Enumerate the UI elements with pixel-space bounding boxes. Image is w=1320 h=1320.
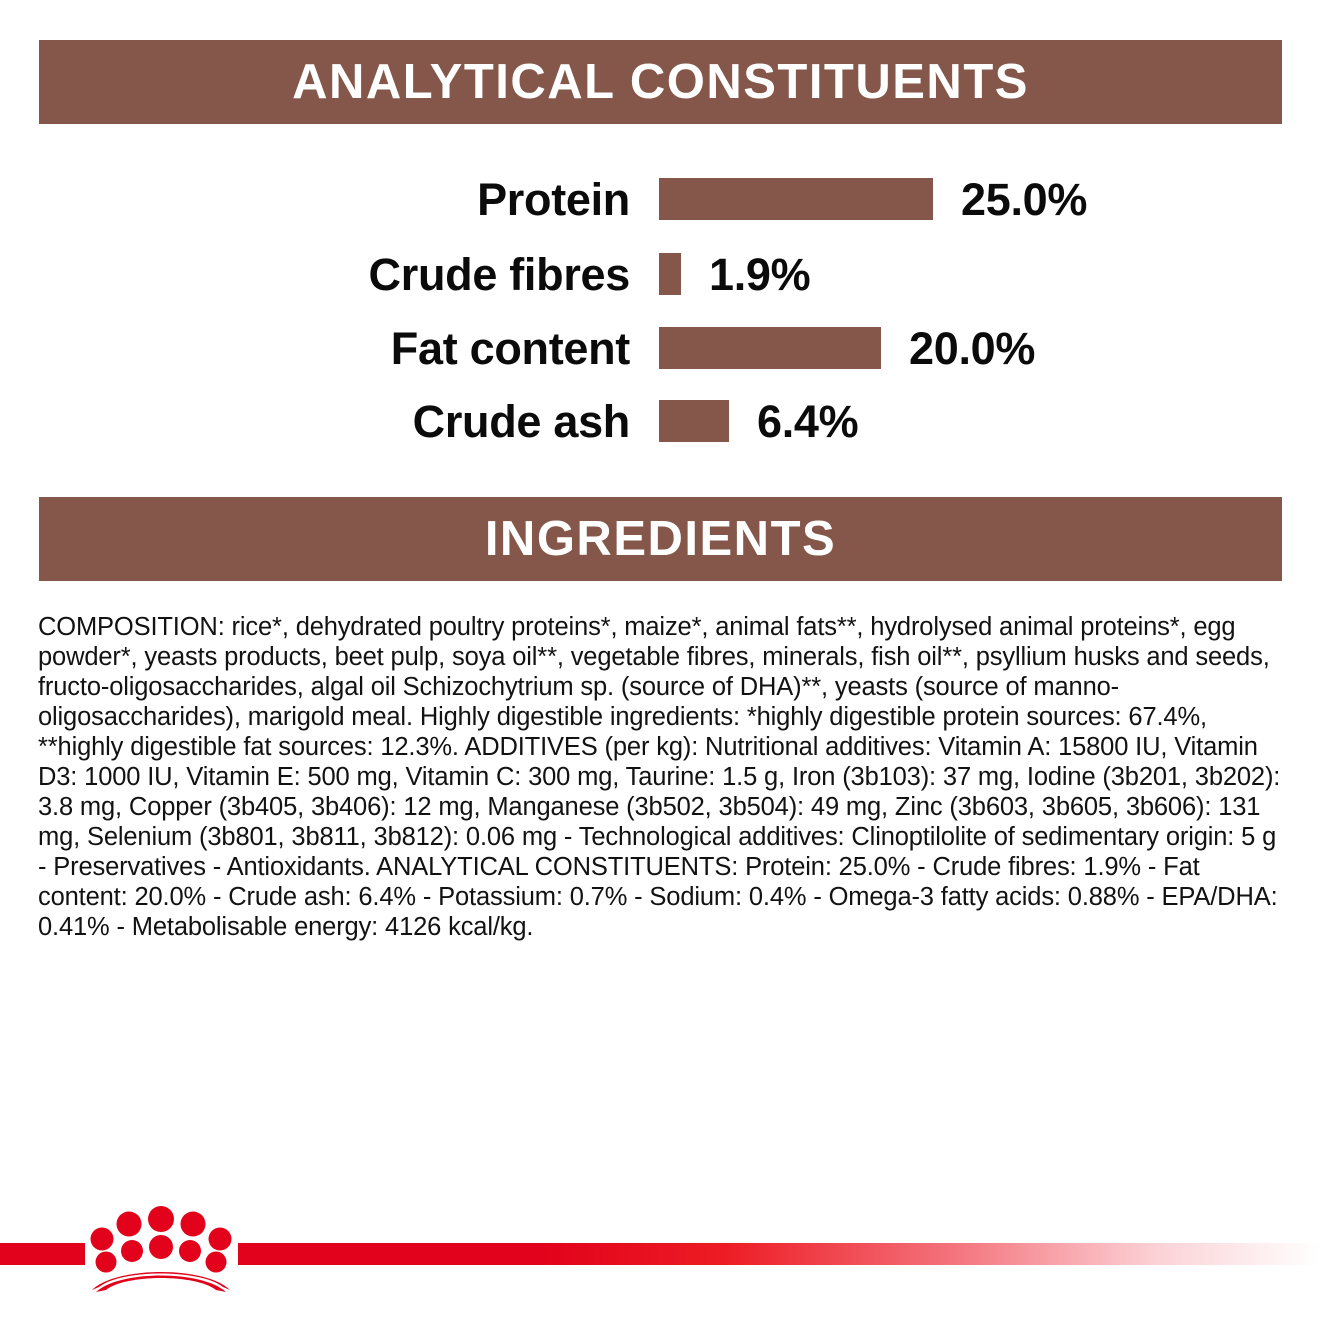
ingredients-banner: INGREDIENTS: [39, 497, 1282, 581]
chart-row-value: 6.4%: [757, 399, 858, 444]
chart-bar-wrap: [659, 178, 933, 220]
chart-row: Fat content 20.0%: [0, 319, 1320, 377]
analytical-constituents-chart: Protein 25.0% Crude fibres 1.9% Fat cont…: [0, 160, 1320, 460]
chart-bar: [659, 178, 933, 220]
analytical-constituents-title: ANALYTICAL CONSTITUENTS: [292, 58, 1029, 107]
chart-row-label: Crude ash: [0, 399, 630, 444]
chart-bar: [659, 400, 729, 442]
chart-bar: [659, 253, 681, 295]
chart-row: Protein 25.0%: [0, 170, 1320, 228]
footer-rule-right: [238, 1243, 1320, 1265]
chart-row-label: Crude fibres: [0, 252, 630, 297]
royal-canin-crown-icon: [86, 1206, 236, 1292]
ingredients-title: INGREDIENTS: [485, 515, 836, 564]
chart-row: Crude ash 6.4%: [0, 392, 1320, 450]
chart-row-value: 20.0%: [909, 326, 1035, 371]
chart-bar-wrap: [659, 400, 729, 442]
chart-row-value: 25.0%: [961, 177, 1087, 222]
chart-row-label: Fat content: [0, 326, 630, 371]
chart-bar-wrap: [659, 253, 681, 295]
chart-row-label: Protein: [0, 177, 630, 222]
chart-bar: [659, 327, 881, 369]
ingredients-composition-text: COMPOSITION: rice*, dehydrated poultry p…: [38, 612, 1290, 942]
chart-bar-wrap: [659, 327, 881, 369]
analytical-constituents-banner: ANALYTICAL CONSTITUENTS: [39, 40, 1282, 124]
footer-rule-left: [0, 1243, 85, 1265]
chart-row-value: 1.9%: [709, 252, 810, 297]
footer: [0, 1200, 1320, 1320]
chart-row: Crude fibres 1.9%: [0, 245, 1320, 303]
